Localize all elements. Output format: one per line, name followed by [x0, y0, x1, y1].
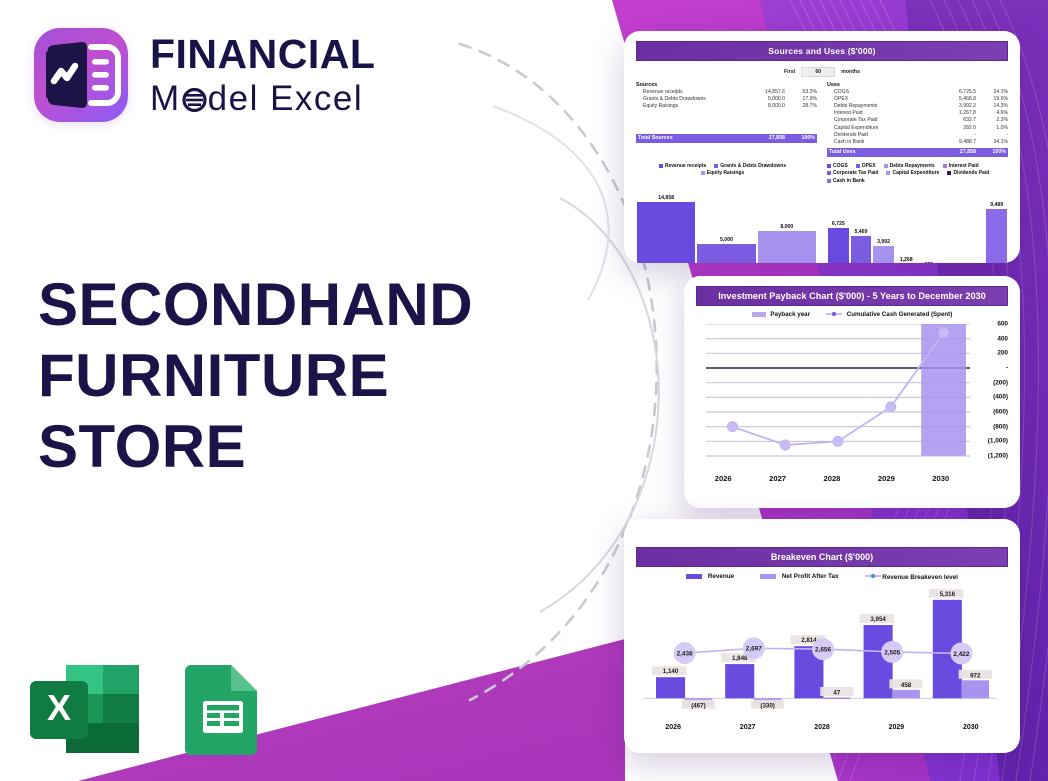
- legend-item: Corporate Tax Paid: [827, 170, 878, 176]
- legend-swatch: [827, 171, 831, 175]
- bar-value-label: 5,000: [720, 237, 733, 243]
- legend-label: Debts Repayments: [890, 163, 935, 169]
- uses-bar-chart: 6,7255,4693,9921,26863328209,489: [827, 189, 1008, 263]
- investment-payback-card: Investment Payback Chart ($'000) - 5 Yea…: [684, 276, 1020, 508]
- payback-year-label: Payback year: [770, 311, 810, 318]
- svg-text:47: 47: [833, 689, 840, 696]
- svg-text:(330): (330): [760, 702, 774, 709]
- legend-swatch: [827, 164, 831, 168]
- legend-cumulative-cash: Cumulative Cash Generated (Spent): [826, 311, 952, 318]
- total-sources-label: Total Sources: [636, 135, 745, 141]
- payback-x-axis: 20262027202820292030: [696, 474, 1008, 483]
- row-pct: 14.3%: [976, 103, 1008, 109]
- page-title: SECONDHAND FURNITURE STORE: [38, 270, 508, 482]
- y-axis-tick: 600: [997, 321, 1008, 328]
- file-format-icons: X: [28, 663, 263, 760]
- legend-swatch: [886, 171, 890, 175]
- svg-text:5,316: 5,316: [940, 591, 956, 598]
- sources-and-uses-card: Sources and Uses ($'000) First 60 months…: [624, 31, 1020, 263]
- breakeven-chart-legend: Revenue Net Profit After Tax Revenue Bre…: [636, 573, 1008, 581]
- row-value: 3,992.2: [936, 103, 976, 109]
- sources-chart: Revenue receiptsGrants & Debts Drawdowns…: [636, 163, 817, 264]
- brand-name-bottom-pre: M: [150, 81, 181, 116]
- svg-text:1,848: 1,848: [732, 655, 748, 662]
- row-pct: 24.1%: [976, 89, 1008, 95]
- total-uses-label: Total Uses: [827, 149, 936, 155]
- breakeven-plot-area: 1,140(467)1,848(330)2,814473,9544585,316…: [636, 589, 1008, 715]
- table-row: Corporate Tax Paid632.72.3%: [827, 117, 1008, 124]
- stylized-o-icon: [181, 81, 208, 116]
- legend-item: Cash in Bank: [827, 178, 865, 184]
- total-sources-row: Total Sources 27,858 100%: [636, 134, 817, 143]
- legend-item: OPEX: [856, 163, 876, 169]
- financial-model-excel-logo-icon: [34, 28, 128, 122]
- row-label: Grants & Debts Drawdowns: [636, 96, 745, 102]
- payback-year-swatch: [752, 312, 766, 317]
- legend-swatch: [943, 164, 947, 168]
- bar-rect: [758, 231, 816, 263]
- google-sheets-icon: [183, 663, 263, 760]
- svg-text:972: 972: [970, 672, 981, 679]
- payback-year-band: [921, 324, 966, 456]
- y-axis-tick: -: [1006, 365, 1008, 372]
- legend-label: Capital Expenditure: [892, 170, 939, 176]
- bar-value-label: 1,268: [900, 257, 913, 263]
- first-label: First: [784, 69, 795, 75]
- legend-label: Dividends Paid: [953, 170, 989, 176]
- total-uses-pct: 100%: [976, 149, 1008, 155]
- svg-text:3,954: 3,954: [870, 616, 886, 623]
- table-row: Interest Paid1,267.84.6%: [827, 110, 1008, 117]
- svg-text:X: X: [47, 687, 71, 728]
- x-axis-tick: 2027: [769, 474, 786, 483]
- svg-text:(467): (467): [691, 702, 705, 709]
- row-label: Debts Repayments: [827, 103, 936, 109]
- legend-label: OPEX: [862, 163, 876, 169]
- legend-swatch: [701, 171, 705, 175]
- legend-item: Capital Expenditure: [886, 170, 939, 176]
- bar-rect: [637, 202, 695, 264]
- row-label: Interest Paid: [827, 110, 936, 116]
- legend-swatch: [884, 164, 888, 168]
- legend-item: Interest Paid: [943, 163, 979, 169]
- bar-value-label: 8,000: [780, 224, 793, 230]
- legend-label: Revenue receipts: [665, 163, 706, 169]
- legend-swatch: [856, 164, 860, 168]
- svg-text:458: 458: [901, 682, 912, 689]
- uses-column: Uses COGS6,725.524.1%OPEX5,468.819.6%Deb…: [827, 82, 1008, 157]
- breakeven-level-swatch: [865, 574, 883, 581]
- breakeven-chart-card: Breakeven Chart ($'000) Revenue Net Prof…: [624, 519, 1020, 753]
- page-title-line-1: SECONDHAND: [38, 270, 508, 341]
- row-pct: 17.9%: [785, 96, 817, 102]
- row-value: 6,725.5: [936, 89, 976, 95]
- bar-rect: [697, 244, 755, 263]
- row-label: Equity Raisings: [636, 103, 745, 109]
- svg-text:2,656: 2,656: [815, 647, 831, 654]
- bar-column: 5,000: [697, 182, 755, 264]
- bar-value-label: 5,469: [854, 229, 867, 235]
- breakeven-level-label: Revenue Breakeven level: [882, 574, 958, 581]
- row-label: Dividends Paid: [827, 132, 936, 138]
- bar-column: 3,992: [873, 189, 893, 263]
- table-row: Dividends Paid--: [827, 131, 1008, 138]
- legend-label: Grants & Debts Drawdowns: [720, 163, 786, 169]
- table-row: OPEX5,468.819.6%: [827, 95, 1008, 102]
- row-pct: 53.3%: [785, 89, 817, 95]
- total-uses-row: Total Uses 27,858 100%: [827, 148, 1008, 157]
- bar-column: 5,469: [851, 189, 871, 263]
- x-axis-tick: 2028: [814, 724, 830, 731]
- bar-rect: [986, 209, 1006, 263]
- payback-plot-area: 600400200-(200)(400)(600)(800)(1,000)(1,…: [696, 324, 1008, 472]
- row-label: Cash in Bank: [827, 139, 936, 145]
- legend-label: COGS: [833, 163, 848, 169]
- x-axis-tick: 2030: [932, 474, 949, 483]
- y-axis-tick: (1,000): [988, 438, 1008, 445]
- net-profit-swatch: [760, 574, 776, 579]
- legend-swatch: [714, 164, 718, 168]
- sources-chart-legend: Revenue receiptsGrants & Debts Drawdowns…: [636, 163, 817, 178]
- total-sources-pct: 100%: [785, 135, 817, 141]
- y-axis-tick: (600): [993, 409, 1008, 416]
- row-label: Capital Expenditure: [827, 125, 936, 131]
- svg-text:2,422: 2,422: [953, 651, 969, 658]
- legend-label: Cash in Bank: [833, 178, 865, 184]
- svg-text:2,438: 2,438: [677, 651, 693, 658]
- uses-chart-legend: COGSOPEXDebts RepaymentsInterest PaidCor…: [827, 163, 1008, 186]
- first-months-row: First 60 months: [636, 67, 1008, 77]
- total-sources-value: 27,858: [745, 135, 785, 141]
- bar-rect: [873, 246, 893, 263]
- revenue-bar: [725, 664, 754, 698]
- svg-text:1,140: 1,140: [663, 668, 679, 675]
- x-axis-tick: 2026: [665, 724, 681, 731]
- bar-value-label: 9,489: [990, 202, 1003, 208]
- months-input[interactable]: 60: [801, 67, 835, 77]
- brand-logo: FINANCIAL M del Excel: [34, 28, 375, 122]
- legend-label: Interest Paid: [949, 163, 979, 169]
- row-value: 282.0: [936, 125, 976, 131]
- breakeven-chart-title: Breakeven Chart ($'000): [636, 547, 1008, 567]
- legend-net-profit: Net Profit After Tax: [760, 573, 838, 581]
- table-row: Revenue receipts14,857.653.3%: [636, 88, 817, 95]
- x-axis-tick: 2027: [740, 724, 756, 731]
- table-row: Cash in Bank9,488.734.1%: [827, 138, 1008, 145]
- legend-item: Equity Raisings: [701, 170, 745, 176]
- bar-column: 6,725: [828, 189, 848, 263]
- y-axis-tick: (1,200): [988, 453, 1008, 460]
- table-row: COGS6,725.524.1%: [827, 88, 1008, 95]
- row-label: Corporate Tax Paid: [827, 117, 936, 123]
- legend-swatch: [947, 171, 951, 175]
- page-title-line-2: FURNITURE: [38, 341, 508, 412]
- bar-rect: [828, 228, 848, 263]
- brand-name-top: FINANCIAL: [150, 34, 375, 75]
- legend-label: Corporate Tax Paid: [833, 170, 878, 176]
- bar-value-label: 633: [924, 262, 933, 263]
- bar-rect: [851, 236, 871, 263]
- total-uses-value: 27,858: [936, 149, 976, 155]
- legend-label: Equity Raisings: [707, 170, 745, 176]
- cumulative-cash-swatch: [826, 311, 842, 317]
- legend-item: Grants & Debts Drawdowns: [714, 163, 786, 169]
- row-value: 8,000.0: [745, 103, 785, 109]
- row-value: 14,857.6: [745, 89, 785, 95]
- row-value: 5,468.8: [936, 96, 976, 102]
- legend-revenue: Revenue: [686, 573, 734, 581]
- legend-breakeven-level: Revenue Breakeven level: [865, 573, 958, 581]
- legend-item: Debts Repayments: [884, 163, 935, 169]
- uses-chart: COGSOPEXDebts RepaymentsInterest PaidCor…: [827, 163, 1008, 264]
- row-value: 5,000.0: [745, 96, 785, 102]
- row-value: 1,267.8: [936, 110, 976, 116]
- page-title-line-3: STORE: [38, 412, 508, 483]
- net-profit-bar: [961, 680, 989, 698]
- cumulative-cash-label: Cumulative Cash Generated (Spent): [847, 311, 953, 318]
- net-profit-bar: [823, 697, 851, 699]
- bar-value-label: 6,725: [832, 221, 845, 227]
- row-pct: 2.3%: [976, 117, 1008, 123]
- x-axis-tick: 2029: [878, 474, 895, 483]
- x-axis-tick: 2028: [824, 474, 841, 483]
- net-profit-bar: [892, 690, 920, 698]
- row-pct: 34.1%: [976, 139, 1008, 145]
- row-pct: 4.6%: [976, 110, 1008, 116]
- y-axis-tick: (200): [993, 379, 1008, 386]
- legend-item: Revenue receipts: [659, 163, 706, 169]
- row-label: Revenue receipts: [636, 89, 745, 95]
- revenue-label: Revenue: [708, 573, 734, 580]
- breakeven-x-axis: 20262027202820292030: [636, 724, 1008, 731]
- table-row: Grants & Debts Drawdowns5,000.017.9%: [636, 95, 817, 102]
- svg-text:2,697: 2,697: [746, 646, 762, 653]
- bar-value-label: 3,992: [877, 239, 890, 245]
- bar-value-label: 14,858: [658, 195, 674, 201]
- legend-item: Dividends Paid: [947, 170, 989, 176]
- svg-text:2,505: 2,505: [884, 649, 900, 656]
- legend-item: COGS: [827, 163, 848, 169]
- x-axis-tick: 2030: [963, 724, 979, 731]
- bar-column: 8,000: [758, 182, 816, 264]
- revenue-swatch: [686, 574, 702, 579]
- bar-column: 0: [964, 189, 984, 263]
- row-pct: -: [976, 132, 1008, 138]
- y-axis-tick: (800): [993, 423, 1008, 430]
- brand-name-bottom: M del Excel: [150, 81, 375, 116]
- months-label: months: [841, 69, 860, 75]
- payback-chart-legend: Payback year Cumulative Cash Generated (…: [696, 311, 1008, 318]
- net-profit-label: Net Profit After Tax: [782, 573, 839, 580]
- row-label: OPEX: [827, 96, 936, 102]
- microsoft-excel-icon: X: [28, 663, 141, 760]
- bar-column: 633: [919, 189, 939, 263]
- row-value: 632.7: [936, 117, 976, 123]
- row-value: -: [936, 132, 976, 138]
- x-axis-tick: 2026: [715, 474, 732, 483]
- legend-payback-year: Payback year: [752, 311, 810, 318]
- bar-column: 14,858: [637, 182, 695, 264]
- y-axis-tick: 200: [997, 350, 1008, 357]
- revenue-bar: [656, 677, 685, 698]
- y-axis-tick: 400: [997, 335, 1008, 342]
- legend-swatch: [827, 179, 831, 183]
- legend-swatch: [659, 164, 663, 168]
- row-pct: 19.6%: [976, 96, 1008, 102]
- y-axis-tick: (400): [993, 394, 1008, 401]
- table-row: Capital Expenditure282.01.0%: [827, 124, 1008, 131]
- table-row: Debts Repayments3,992.214.3%: [827, 102, 1008, 109]
- row-pct: 28.7%: [785, 103, 817, 109]
- sources-bar-chart: 14,8585,0008,000: [636, 182, 817, 264]
- bar-column: 282: [941, 189, 961, 263]
- sources-uses-title: Sources and Uses ($'000): [636, 41, 1008, 61]
- poster-canvas: FINANCIAL M del Excel SECONDHAND FURNITU…: [0, 0, 1048, 781]
- bar-column: 9,489: [986, 189, 1006, 263]
- table-row: Equity Raisings8,000.028.7%: [636, 102, 817, 109]
- sources-column: Sources Revenue receipts14,857.653.3%Gra…: [636, 82, 817, 157]
- payback-y-axis: 600400200-(200)(400)(600)(800)(1,000)(1,…: [968, 324, 1008, 456]
- row-value: 9,488.7: [936, 139, 976, 145]
- bar-column: 1,268: [896, 189, 916, 263]
- brand-name-bottom-post: del Excel: [208, 81, 364, 116]
- x-axis-tick: 2029: [889, 724, 905, 731]
- row-pct: 1.0%: [976, 125, 1008, 131]
- row-label: COGS: [827, 89, 936, 95]
- payback-chart-title: Investment Payback Chart ($'000) - 5 Yea…: [696, 286, 1008, 306]
